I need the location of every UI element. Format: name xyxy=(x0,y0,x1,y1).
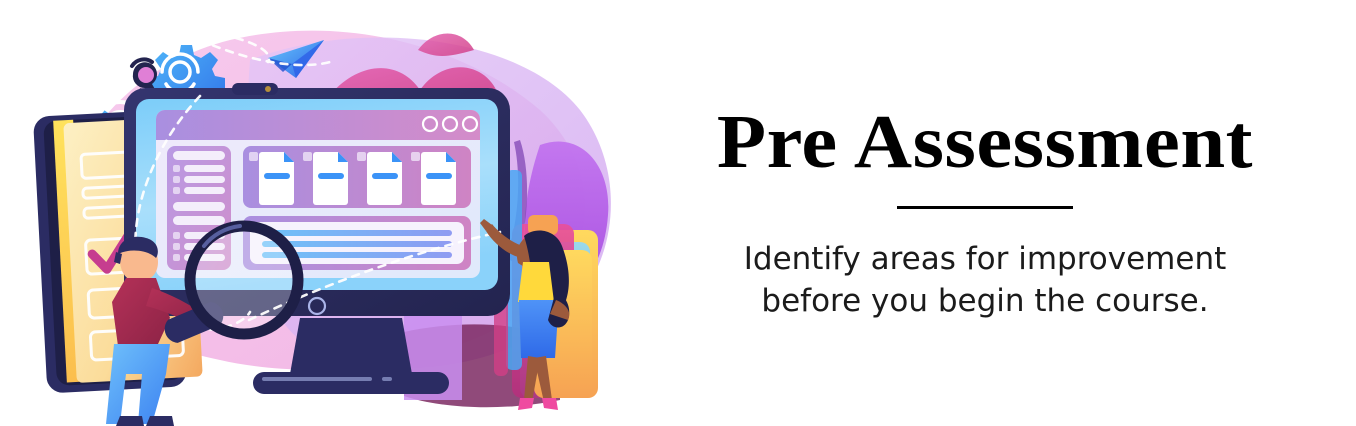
title-divider xyxy=(897,206,1073,209)
banner-text-panel: Pre Assessment Identify areas for improv… xyxy=(640,0,1356,426)
pre-assessment-illustration xyxy=(0,0,640,426)
page-subtitle: Identify areas for improvement before yo… xyxy=(744,239,1227,321)
page-title: Pre Assessment xyxy=(717,104,1253,180)
document-cards xyxy=(243,146,471,208)
monitor-stand-neck xyxy=(290,318,412,374)
monitor-stand-base xyxy=(253,372,449,394)
pre-assessment-banner: Pre Assessment Identify areas for improv… xyxy=(0,0,1356,426)
